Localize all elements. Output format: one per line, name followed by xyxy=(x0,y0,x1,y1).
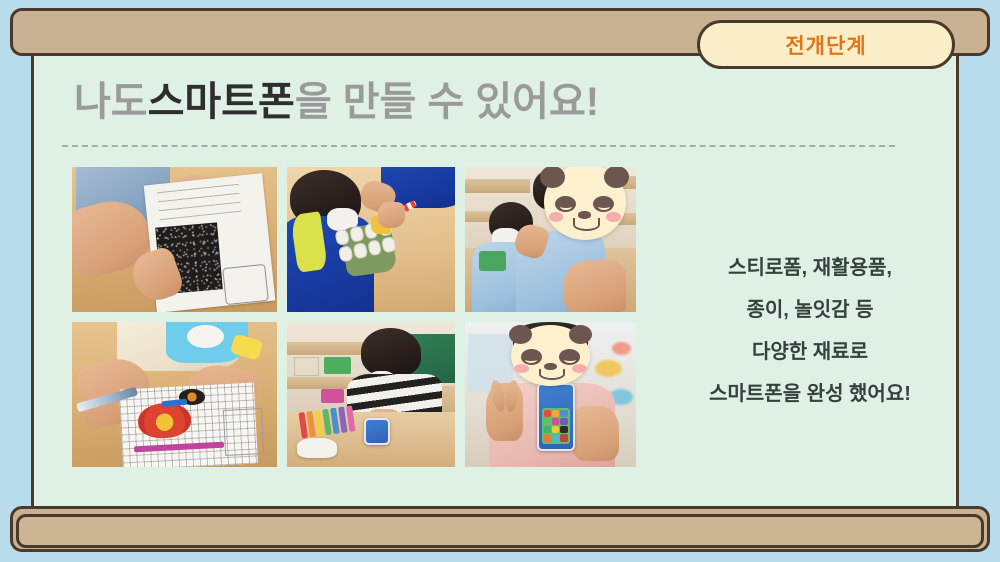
photo-heart-drawing-worksheet[interactable] xyxy=(72,322,277,467)
title-segment-emphasis: 스마트폰 xyxy=(148,82,295,122)
caption-block: 스티로폼, 재활용품, 종이, 놀잇감 등 다양한 재료로 스마트폰을 완성 했… xyxy=(660,258,960,404)
title-segment-plain-1: 나도 xyxy=(74,82,148,122)
photo-worksheet-black-card[interactable] xyxy=(72,167,277,312)
photo-grid xyxy=(72,167,634,467)
caption-line: 종이, 놀잇감 등 xyxy=(660,300,960,320)
title-divider xyxy=(62,145,895,147)
title-segment-plain-2: 을 만들 수 있어요! xyxy=(295,82,599,122)
photo-panda-sticker-classroom[interactable] xyxy=(465,167,636,312)
page-title: 나도 스마트폰 을 만들 수 있어요! xyxy=(74,76,599,128)
caption-line: 스마트폰을 완성 했어요! xyxy=(660,384,960,404)
panda-face-sticker xyxy=(544,167,626,240)
caption-line: 다양한 재료로 xyxy=(660,342,960,362)
photo-child-markers-table[interactable] xyxy=(287,322,455,467)
handmade-smartphone-craft xyxy=(537,383,575,451)
stage-badge-label: 전개단계 xyxy=(785,30,866,60)
bottom-decorative-bar-inner xyxy=(16,514,984,548)
stage-badge[interactable]: 전개단계 xyxy=(697,20,955,69)
photo-finished-phone-peace-sign[interactable] xyxy=(465,322,636,467)
slide-root: 전개단계 나도 스마트폰 을 만들 수 있어요! xyxy=(0,0,1000,562)
photo-boy-blue-jersey-cups[interactable] xyxy=(287,167,455,312)
panda-face-sticker xyxy=(511,325,590,386)
caption-line: 스티로폼, 재활용품, xyxy=(660,258,960,278)
